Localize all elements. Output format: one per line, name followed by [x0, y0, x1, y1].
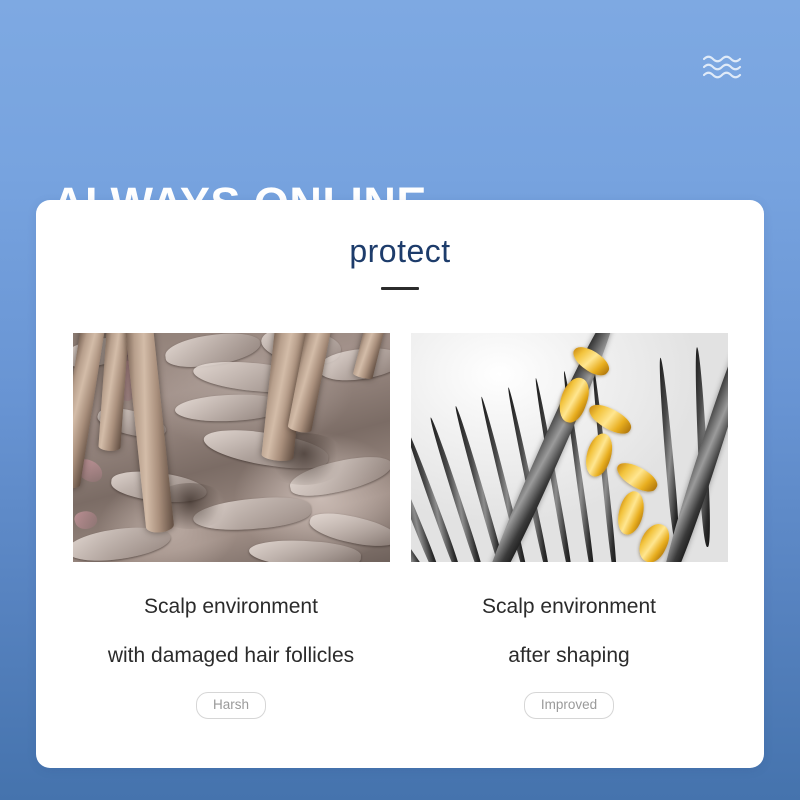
caption-line-1: Scalp environment	[108, 582, 354, 631]
comparison-panels: Scalp environment with damaged hair foll…	[36, 333, 764, 719]
poster-root: ALWAYS ONLINE VISIBLE REPAIR POWER prote…	[0, 0, 800, 800]
panel-caption-before: Scalp environment with damaged hair foll…	[108, 582, 354, 681]
status-badge-harsh: Harsh	[196, 692, 266, 719]
card-title: protect	[36, 233, 764, 270]
scalp-damaged-follicles-photo	[73, 333, 390, 562]
comparison-panel-after: Scalp environment after shaping Improved	[411, 333, 728, 719]
wave-lines-icon	[703, 54, 745, 80]
comparison-panel-before: Scalp environment with damaged hair foll…	[73, 333, 390, 719]
caption-line-2: with damaged hair follicles	[108, 631, 354, 680]
scalp-after-shaping-photo	[411, 333, 728, 562]
title-underline-rule	[381, 287, 419, 290]
caption-line-2: after shaping	[482, 631, 656, 680]
content-card: protect	[36, 200, 764, 768]
caption-line-1: Scalp environment	[482, 582, 656, 631]
panel-caption-after: Scalp environment after shaping	[482, 582, 656, 681]
status-badge-improved: Improved	[524, 692, 614, 719]
